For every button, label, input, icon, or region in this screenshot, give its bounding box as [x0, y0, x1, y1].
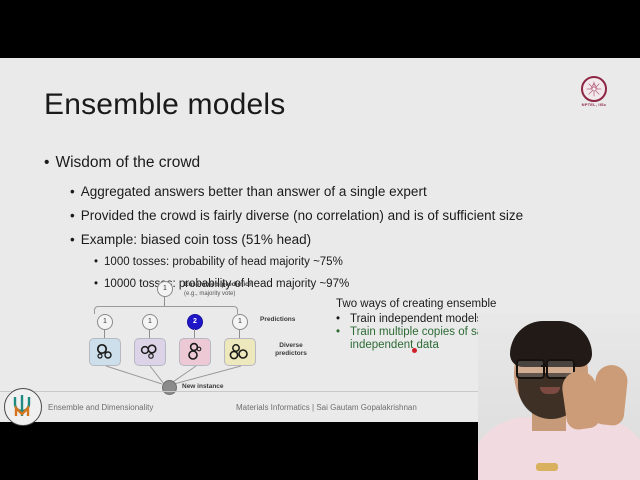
iisc-logo — [4, 388, 42, 426]
arrow-pred-3 — [194, 329, 195, 338]
prediction-node-1: 1 — [97, 314, 113, 330]
bullet-glyph: • — [70, 232, 75, 247]
new-instance-label: New instance — [182, 383, 252, 391]
eyeglasses-left-lens — [516, 359, 545, 379]
predictions-label: Predictions — [260, 316, 320, 324]
bullet-l2-aggregated: •Aggregated answers better than answer o… — [70, 184, 427, 199]
page-title: Ensemble models — [44, 88, 285, 122]
nptel-star-icon — [586, 81, 602, 97]
presenter-hand-right — [591, 363, 629, 426]
footer-right-text: Materials Informatics | Sai Gautam Gopal… — [236, 403, 417, 412]
ensemble-prediction-label: Ensemble's prediction — [184, 281, 294, 289]
bullet-text: Wisdom of the crowd — [55, 154, 200, 171]
diverse-predictors-label-line1: Diverse — [260, 342, 322, 350]
two-ways-continuation-text: independent data — [350, 339, 439, 351]
bullet-text: Example: biased coin toss (51% head) — [81, 232, 311, 247]
two-ways-item-1-text: Train independent models — [350, 313, 483, 325]
eyeglasses-bridge — [541, 365, 546, 367]
presenter-watch — [536, 463, 558, 471]
bullet-l2-provided: •Provided the crowd is fairly diverse (n… — [70, 208, 523, 223]
arrow-to-ensemble — [164, 296, 165, 306]
ensemble-diagram: 1 Ensemble's prediction (e.g., majority … — [44, 280, 344, 390]
gear-icon — [185, 342, 205, 362]
bullet-glyph: • — [70, 184, 75, 199]
bullet-l2-example: •Example: biased coin toss (51% head) — [70, 232, 311, 247]
slide-canvas: Ensemble models NPTEL, IISc •Wisdom of t… — [0, 58, 640, 422]
bullet-text: Provided the crowd is fairly diverse (no… — [81, 208, 523, 223]
iisc-emblem-icon — [5, 389, 39, 423]
footer-left-text: Ensemble and Dimensionality — [48, 403, 153, 412]
prediction-node-2: 1 — [142, 314, 158, 330]
arrow-pred-2 — [149, 329, 150, 338]
gear-icon — [95, 343, 115, 361]
gear-icon — [229, 343, 251, 361]
bullet-glyph: • — [44, 154, 49, 172]
ensemble-prediction-node: 1 — [157, 281, 173, 297]
prediction-node-4: 1 — [232, 314, 248, 330]
bullet-glyph: • — [70, 208, 75, 223]
ensemble-prediction-sublabel: (e.g., majority vote) — [184, 290, 294, 298]
new-instance-node — [162, 380, 177, 395]
bullet-text: 1000 tosses: probability of head majorit… — [104, 256, 343, 268]
laser-pointer-marker — [412, 348, 417, 353]
arrow-pred-1 — [104, 329, 105, 338]
video-frame: Ensemble models NPTEL, IISc •Wisdom of t… — [0, 0, 640, 480]
diverse-predictors-label-line2: predictors — [260, 350, 322, 358]
gear-icon — [139, 343, 161, 361]
bullet-text: Aggregated answers better than answer of… — [81, 184, 427, 199]
grouping-brace — [94, 306, 238, 314]
nptel-logo-caption: NPTEL, IISc — [578, 102, 610, 107]
bullet-glyph: • — [336, 313, 350, 325]
bullet-l1-wisdom: •Wisdom of the crowd — [44, 154, 200, 172]
presenter-webcam-overlay — [478, 313, 640, 480]
predictor-box-3 — [179, 338, 211, 366]
prediction-node-3: 2 — [187, 314, 203, 330]
predictor-box-2 — [134, 338, 166, 366]
nptel-logo: NPTEL, IISc — [578, 76, 610, 110]
bullet-glyph: • — [336, 326, 350, 338]
arrow-pred-4 — [239, 329, 240, 338]
letterbox-bar-top — [0, 0, 640, 58]
predictor-box-1 — [89, 338, 121, 366]
bullet-glyph: • — [94, 256, 98, 268]
predictor-box-4 — [224, 338, 256, 366]
two-ways-heading: Two ways of creating ensemble — [336, 298, 566, 310]
bullet-l3-1000-tosses: •1000 tosses: probability of head majori… — [94, 256, 343, 268]
